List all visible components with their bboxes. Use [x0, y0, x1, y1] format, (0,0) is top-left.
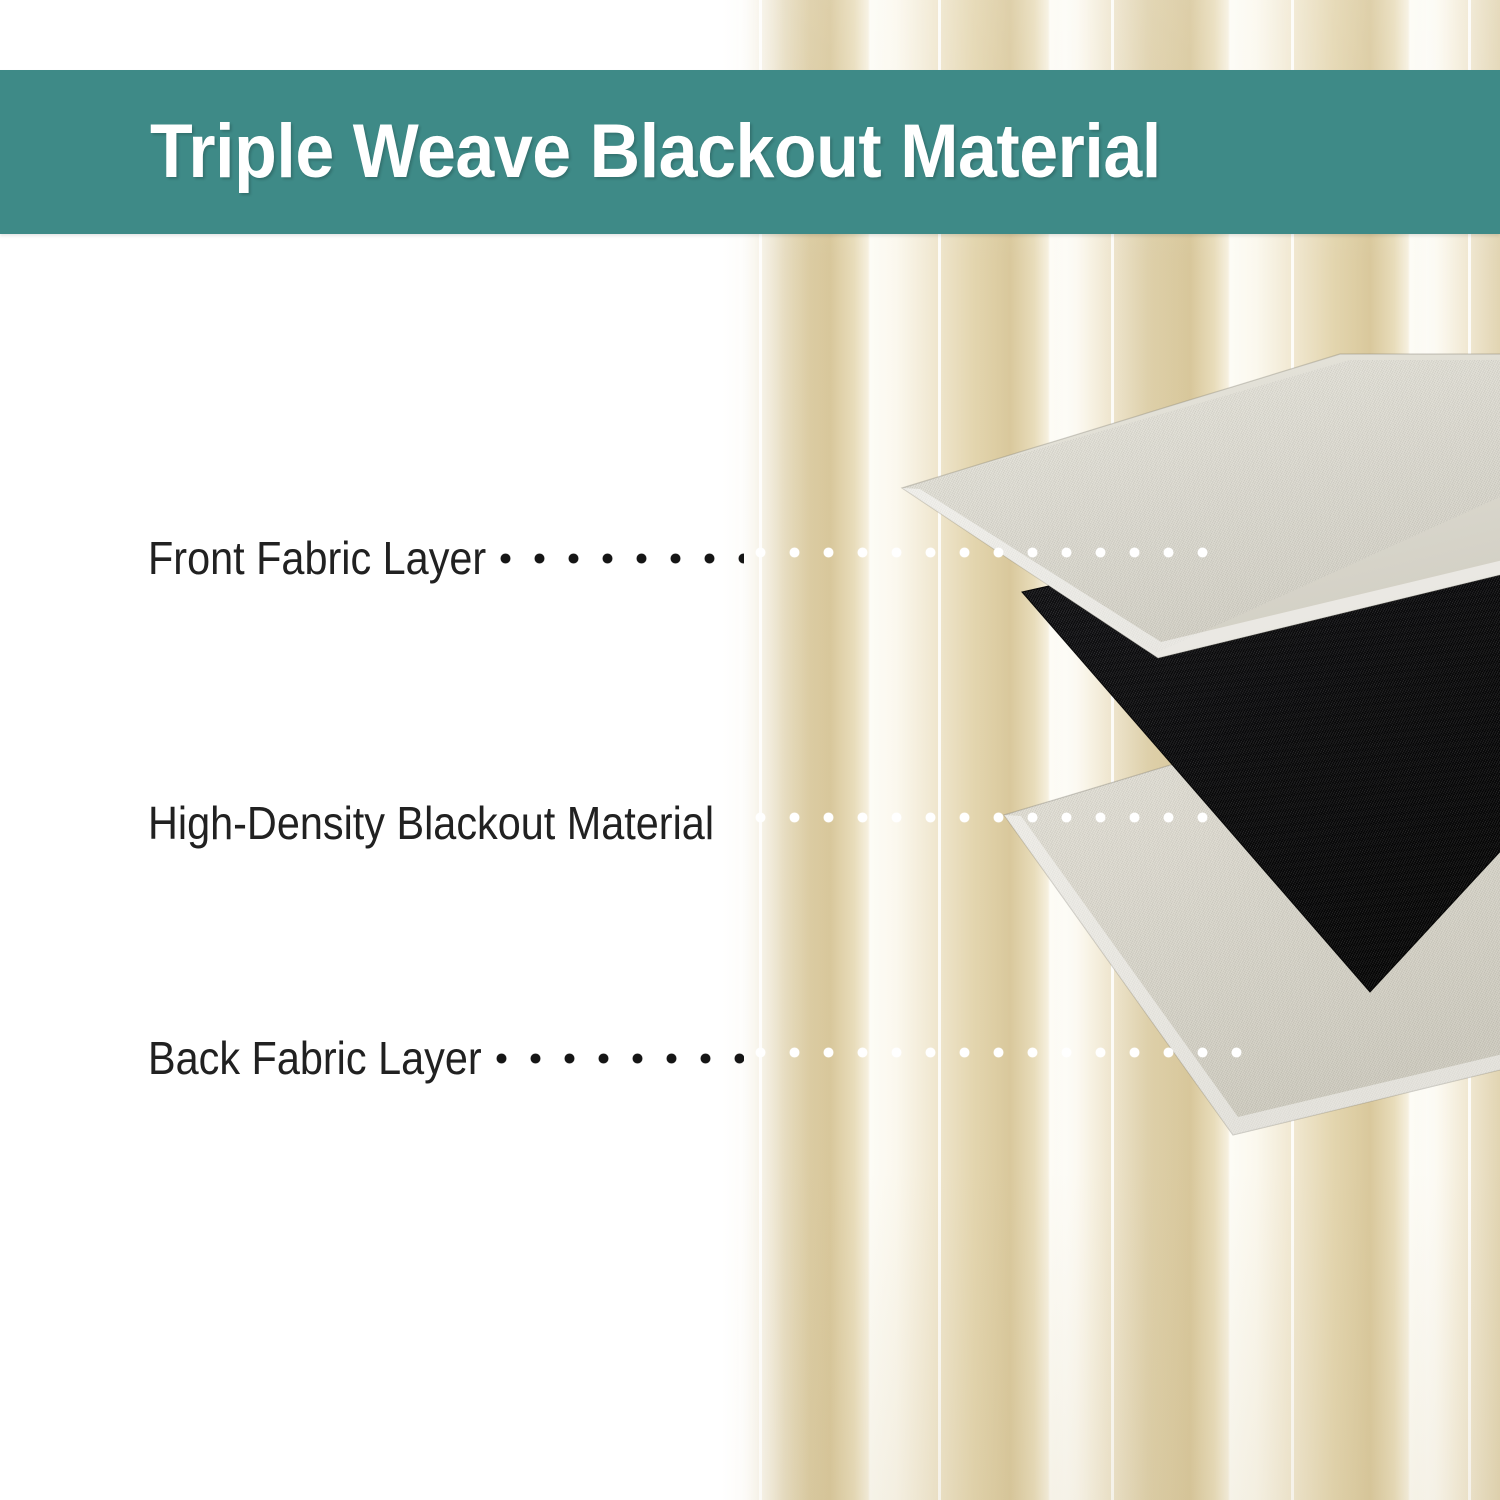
- front-fabric-swatch: [880, 360, 1500, 1160]
- fabric-layer-stack: [880, 360, 1500, 1160]
- header-banner: Triple Weave Blackout Material: [0, 70, 1500, 234]
- leader-dots-dark-front: [500, 553, 744, 564]
- leader-dots-light-back: [755, 1047, 1255, 1058]
- callout-back-fabric-layer: Back Fabric Layer: [148, 1028, 519, 1088]
- leader-dots-light-front: [755, 547, 1225, 558]
- callout-high-density-blackout-material: High-Density Blackout Material: [148, 793, 777, 853]
- callout-front-fabric-layer: Front Fabric Layer: [148, 528, 524, 588]
- callout-label-back-fabric-layer: Back Fabric Layer: [148, 1028, 482, 1088]
- callout-label-high-density-blackout-material: High-Density Blackout Material: [148, 793, 714, 853]
- callout-label-front-fabric-layer: Front Fabric Layer: [148, 528, 486, 588]
- leader-dots-dark-back: [496, 1053, 744, 1064]
- page-title: Triple Weave Blackout Material: [150, 114, 1161, 190]
- infographic-canvas: Triple Weave Blackout Material Front Fab…: [0, 0, 1500, 1500]
- leader-dots-light-density: [755, 812, 1215, 823]
